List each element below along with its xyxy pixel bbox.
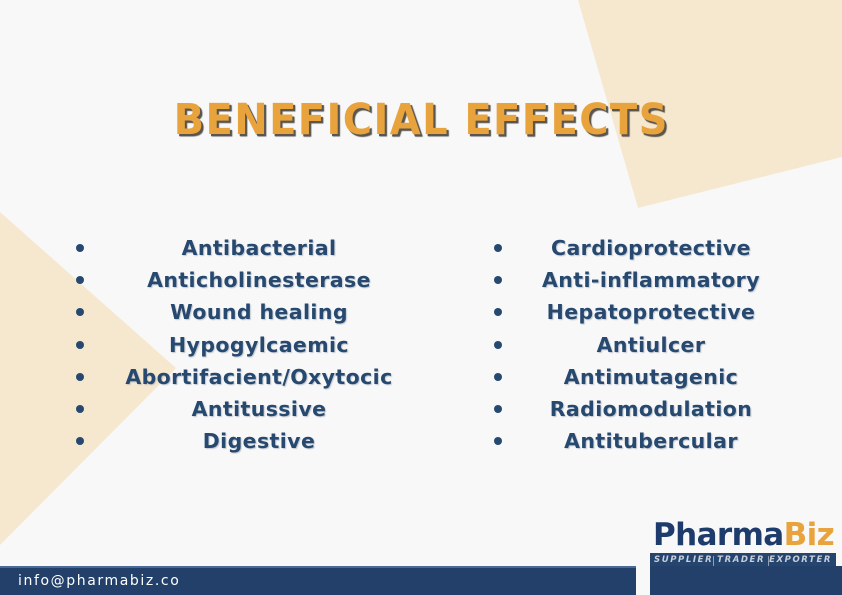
page-title: BENEFICIAL EFFECTS [173,95,668,145]
list-item-label: Hypogylcaemic [169,333,349,357]
list-item: Radiomodulation [470,393,810,425]
list-item-label: Digestive [203,429,316,453]
list-item: Anticholinesterase [46,264,446,296]
list-item-label: Antimutagenic [564,365,738,389]
list-item-label: Hepatoprotective [547,300,756,324]
effects-columns: Antibacterial Anticholinesterase Wound h… [0,232,842,467]
bullet-icon [494,308,502,316]
list-item-label: Anti-inflammatory [542,268,760,292]
page-title-container: BENEFICIAL EFFECTS [0,95,842,145]
bullet-icon [76,276,84,284]
bullet-icon [76,437,84,445]
bullet-icon [494,405,502,413]
list-item: Abortifacient/Oxytocic [46,361,446,393]
list-item: Anti-inflammatory [470,264,810,296]
list-item: Digestive [46,425,446,457]
bullet-icon [76,341,84,349]
bullet-icon [76,405,84,413]
list-item-label: Anticholinesterase [147,268,371,292]
effects-list-right: Cardioprotective Anti-inflammatory Hepat… [470,232,810,457]
list-item-label: Antiulcer [597,333,706,357]
list-item: Antitubercular [470,425,810,457]
logo-text-biz: Biz [784,517,835,553]
footer-bar-left: info@pharmabiz.co [0,566,636,595]
list-item-label: Wound healing [170,300,348,324]
footer-email[interactable]: info@pharmabiz.co [0,568,636,595]
list-item: Hepatoprotective [470,296,810,328]
list-item: Wound healing [46,296,446,328]
bullet-icon [494,276,502,284]
list-item: Antibacterial [46,232,446,264]
footer-bar-right [650,566,842,595]
list-item-label: Abortifacient/Oxytocic [125,365,392,389]
bullet-icon [76,373,84,381]
bullet-icon [494,244,502,252]
list-item-label: Antitubercular [564,429,738,453]
bullet-icon [76,308,84,316]
list-item-label: Antibacterial [182,236,337,260]
bullet-icon [494,437,502,445]
effects-list-left: Antibacterial Anticholinesterase Wound h… [46,232,446,457]
list-item: Antiulcer [470,329,810,361]
list-item-label: Antitussive [192,397,327,421]
bullet-icon [494,373,502,381]
list-item-label: Radiomodulation [550,397,752,421]
bullet-icon [494,341,502,349]
list-item: Antitussive [46,393,446,425]
list-item: Cardioprotective [470,232,810,264]
effects-column-left: Antibacterial Anticholinesterase Wound h… [46,232,446,467]
list-item: Hypogylcaemic [46,329,446,361]
effects-column-right: Cardioprotective Anti-inflammatory Hepat… [470,232,810,467]
slide-canvas: BENEFICIAL EFFECTS Antibacterial Anticho… [0,0,842,595]
list-item-label: Cardioprotective [551,236,751,260]
logo-wordmark: PharmaBiz [650,518,836,552]
pharmabiz-logo[interactable]: PharmaBiz SUPPLIER TRADER EXPORTER [650,518,836,568]
list-item: Antimutagenic [470,361,810,393]
bullet-icon [76,244,84,252]
logo-text-pharma: Pharma [653,517,784,553]
